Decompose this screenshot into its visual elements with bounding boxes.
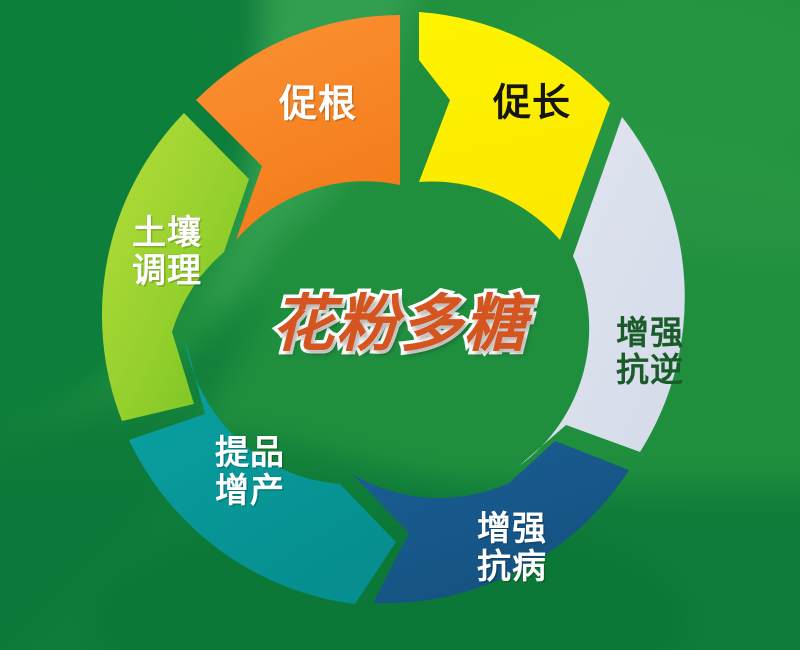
segment-shape-tu-rang-tiao-li[interactable] (102, 113, 249, 421)
segment-shape-zeng-qiang-kang-bing[interactable] (352, 441, 629, 603)
cycle-wheel (0, 0, 800, 650)
cycle-wheel-svg (0, 0, 800, 650)
infographic-canvas: 促根 促长 增强 抗逆 增强 抗病 提品 增产 土壤 调理 花粉多糖 花粉多糖 (0, 0, 800, 650)
segment-shape-cu-zhang[interactable] (419, 12, 610, 240)
